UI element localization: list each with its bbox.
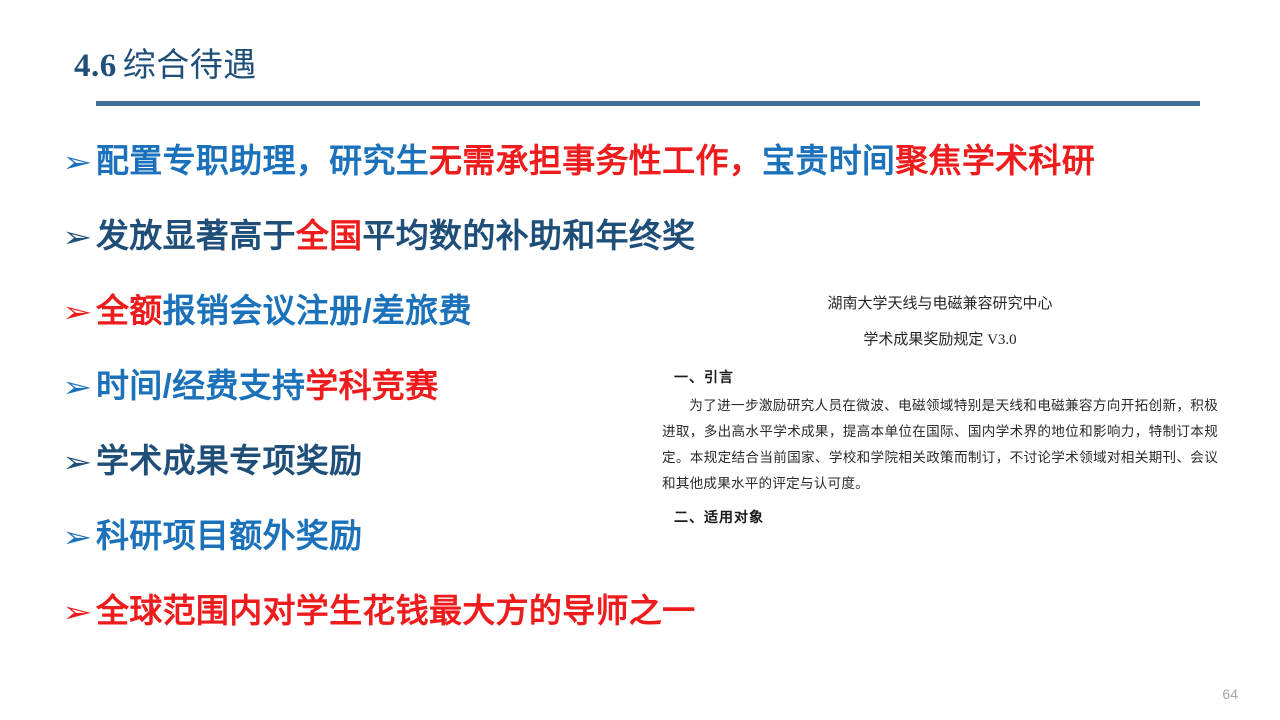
page-number: 64	[1222, 686, 1238, 702]
document-paragraph-text: 为了进一步激励研究人员在微波、电磁领域特别是天线和电磁兼容方向开拓创新，积极进取…	[662, 398, 1218, 491]
bullet-arrow-icon: ➢	[62, 523, 105, 552]
bullet-text: 时间/经费支持学科竞赛	[96, 368, 438, 404]
bullet-text-segment: 时间/经费支持	[96, 367, 305, 404]
bullet-arrow-icon: ➢	[62, 223, 105, 252]
page-title-text: 综合待遇	[123, 48, 257, 84]
bullet-arrow-icon: ➢	[62, 373, 105, 402]
slide-title-block: 4.6综合待遇	[0, 38, 1280, 98]
bullet-text-segment: 报销会议注册/差旅费	[163, 292, 472, 329]
bullet-text-segment: 学术成果专项奖励	[96, 442, 362, 479]
document-title-line-1: 湖南大学天线与电磁兼容研究中心	[662, 294, 1218, 314]
bullet-text-segment: 科研项目额外奖励	[96, 517, 362, 554]
bullet-text-segment: 聚焦学术科研	[895, 142, 1095, 179]
bullet-item: ➢全球范围内对学生花钱最大方的导师之一	[62, 593, 1280, 668]
bullet-text-segment: 全球范围内对学生花钱最大方的导师之一	[96, 592, 695, 629]
bullet-text: 发放显著高于全国平均数的补助和年终奖	[96, 218, 695, 254]
bullet-text-segment: 全额	[96, 292, 163, 329]
bullet-text-segment: 配置专职助理，研究生	[96, 142, 429, 179]
page-title-number: 4.6	[74, 48, 117, 84]
bullet-text-segment: 全国	[296, 217, 363, 254]
bullet-text-segment: 学科竞赛	[305, 367, 438, 404]
bullet-text: 全球范围内对学生花钱最大方的导师之一	[96, 593, 695, 629]
document-section-1-heading: 一、引言	[674, 367, 1218, 387]
bullet-arrow-icon: ➢	[62, 598, 105, 627]
bullet-text-segment: ，	[729, 142, 762, 179]
document-section-1-paragraph: 为了进一步激励研究人员在微波、电磁领域特别是天线和电磁兼容方向开拓创新，积极进取…	[662, 393, 1218, 497]
bullet-arrow-icon: ➢	[62, 448, 105, 477]
bullet-item: ➢配置专职助理，研究生无需承担事务性工作，宝贵时间聚焦学术科研	[62, 143, 1280, 218]
bullet-arrow-icon: ➢	[62, 298, 105, 327]
bullet-text: 学术成果专项奖励	[96, 443, 362, 479]
bullet-text-segment: 平均数的补助和年终奖	[362, 217, 695, 254]
document-image-panel: 湖南大学天线与电磁兼容研究中心 学术成果奖励规定 V3.0 一、引言 为了进一步…	[662, 286, 1218, 596]
page-title: 4.6综合待遇	[74, 38, 257, 86]
bullet-text: 配置专职助理，研究生无需承担事务性工作，宝贵时间聚焦学术科研	[96, 143, 1095, 179]
bullet-arrow-icon: ➢	[62, 148, 105, 177]
bullet-text: 全额报销会议注册/差旅费	[96, 293, 472, 329]
document-title-line-2: 学术成果奖励规定 V3.0	[662, 330, 1218, 350]
title-underline-rule	[96, 101, 1200, 106]
bullet-text-segment: 无需承担事务性工作	[429, 142, 729, 179]
bullet-text-segment: 宝贵时间	[762, 142, 895, 179]
document-section-2-heading: 二、适用对象	[674, 507, 1218, 527]
slide-canvas: 4.6综合待遇 ➢配置专职助理，研究生无需承担事务性工作，宝贵时间聚焦学术科研➢…	[0, 0, 1280, 720]
bullet-text: 科研项目额外奖励	[96, 518, 362, 554]
bullet-item: ➢发放显著高于全国平均数的补助和年终奖	[62, 218, 1280, 293]
bullet-text-segment: 发放显著高于	[96, 217, 296, 254]
